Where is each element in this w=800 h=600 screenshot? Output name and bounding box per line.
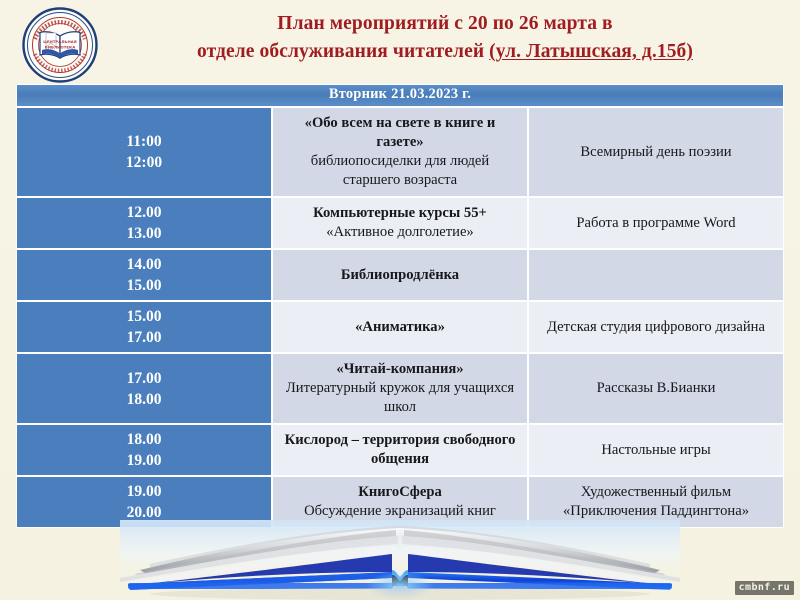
time-cell: 18.0019.00	[16, 424, 272, 476]
time-end: 17.00	[17, 327, 271, 348]
time-start: 18.00	[17, 429, 271, 450]
time-start: 11:00	[17, 131, 271, 152]
event-title: «Обо всем на свете в книге и газете»	[283, 114, 517, 152]
event-cell: «Обо всем на свете в книге и газете»библ…	[272, 107, 528, 197]
logo-inner-text-bottom: БИБЛИОТЕКА	[45, 45, 76, 50]
table-row: 11:0012:00«Обо всем на свете в книге и г…	[16, 107, 784, 197]
time-cell: 14.0015.00	[16, 249, 272, 301]
schedule-table-body: 11:0012:00«Обо всем на свете в книге и г…	[16, 107, 784, 528]
event-subtitle: Литературный кружок для учащихся школ	[283, 379, 517, 417]
event-subtitle: «Активное долголетие»	[283, 223, 517, 242]
title-line-1: План мероприятий с 20 по 26 марта в	[110, 10, 780, 38]
event-subtitle: Обсуждение экранизаций книг	[283, 502, 517, 521]
table-row: 14.0015.00Библиопродлёнка	[16, 249, 784, 301]
poster-page: ЦЕНТРАЛЬНАЯ БИБЛИОТЕКА План мероприятий …	[0, 0, 800, 600]
title-line-2: отделе обслуживания читателей (ул. Латыш…	[110, 38, 780, 66]
open-book-illustration	[0, 520, 800, 600]
time-end: 13.00	[17, 223, 271, 244]
event-title: Кислород – территория свободного общения	[283, 431, 517, 469]
title-address-underlined: (ул. Латышская, д.15б)	[489, 41, 693, 62]
note-cell: Настольные игры	[528, 424, 784, 476]
event-title: «Читай-компания»	[283, 360, 517, 379]
event-title: «Аниматика»	[283, 318, 517, 337]
event-subtitle: библиопосиделки для людей старшего возра…	[283, 152, 517, 190]
time-end: 19.00	[17, 450, 271, 471]
table-row: 18.0019.00Кислород – территория свободно…	[16, 424, 784, 476]
page-title: План мероприятий с 20 по 26 марта в отде…	[110, 10, 780, 66]
event-title: Компьютерные курсы 55+	[283, 204, 517, 223]
event-cell: «Читай-компания»Литературный кружок для …	[272, 353, 528, 424]
note-cell: Работа в программе Word	[528, 197, 784, 249]
note-cell: Всемирный день поэзии	[528, 107, 784, 197]
time-start: 12.00	[17, 202, 271, 223]
time-start: 15.00	[17, 306, 271, 327]
event-cell: Компьютерные курсы 55+«Активное долголет…	[272, 197, 528, 249]
time-start: 14.00	[17, 254, 271, 275]
table-header-row: Вторник 21.03.2023 г.	[16, 84, 784, 107]
title-line-2-plain: отделе обслуживания читателей	[197, 41, 489, 62]
event-cell: «Аниматика»	[272, 301, 528, 353]
logo-inner-text-top: ЦЕНТРАЛЬНАЯ	[43, 39, 77, 44]
time-start: 17.00	[17, 368, 271, 389]
time-end: 12:00	[17, 152, 271, 173]
day-header-cell: Вторник 21.03.2023 г.	[16, 84, 784, 107]
note-cell: Рассказы В.Бианки	[528, 353, 784, 424]
event-cell: Кислород – территория свободного общения	[272, 424, 528, 476]
event-cell: Библиопродлёнка	[272, 249, 528, 301]
time-cell: 11:0012:00	[16, 107, 272, 197]
time-start: 19.00	[17, 481, 271, 502]
poster-header: ЦЕНТРАЛЬНАЯ БИБЛИОТЕКА План мероприятий …	[0, 0, 800, 84]
time-cell: 12.0013.00	[16, 197, 272, 249]
site-watermark: cmbnf.ru	[735, 581, 794, 595]
time-cell: 17.0018.00	[16, 353, 272, 424]
schedule-table: Вторник 21.03.2023 г. 11:0012:00«Обо все…	[16, 84, 784, 528]
time-end: 15.00	[17, 275, 271, 296]
table-row: 12.0013.00Компьютерные курсы 55+«Активно…	[16, 197, 784, 249]
table-row: 15.0017.00«Аниматика»Детская студия цифр…	[16, 301, 784, 353]
note-cell	[528, 249, 784, 301]
time-cell: 15.0017.00	[16, 301, 272, 353]
event-title: Библиопродлёнка	[283, 266, 517, 285]
library-emblem-logo: ЦЕНТРАЛЬНАЯ БИБЛИОТЕКА	[20, 6, 100, 84]
time-end: 18.00	[17, 389, 271, 410]
event-title: КнигоСфера	[283, 483, 517, 502]
table-row: 17.0018.00«Читай-компания»Литературный к…	[16, 353, 784, 424]
note-cell: Детская студия цифрового дизайна	[528, 301, 784, 353]
